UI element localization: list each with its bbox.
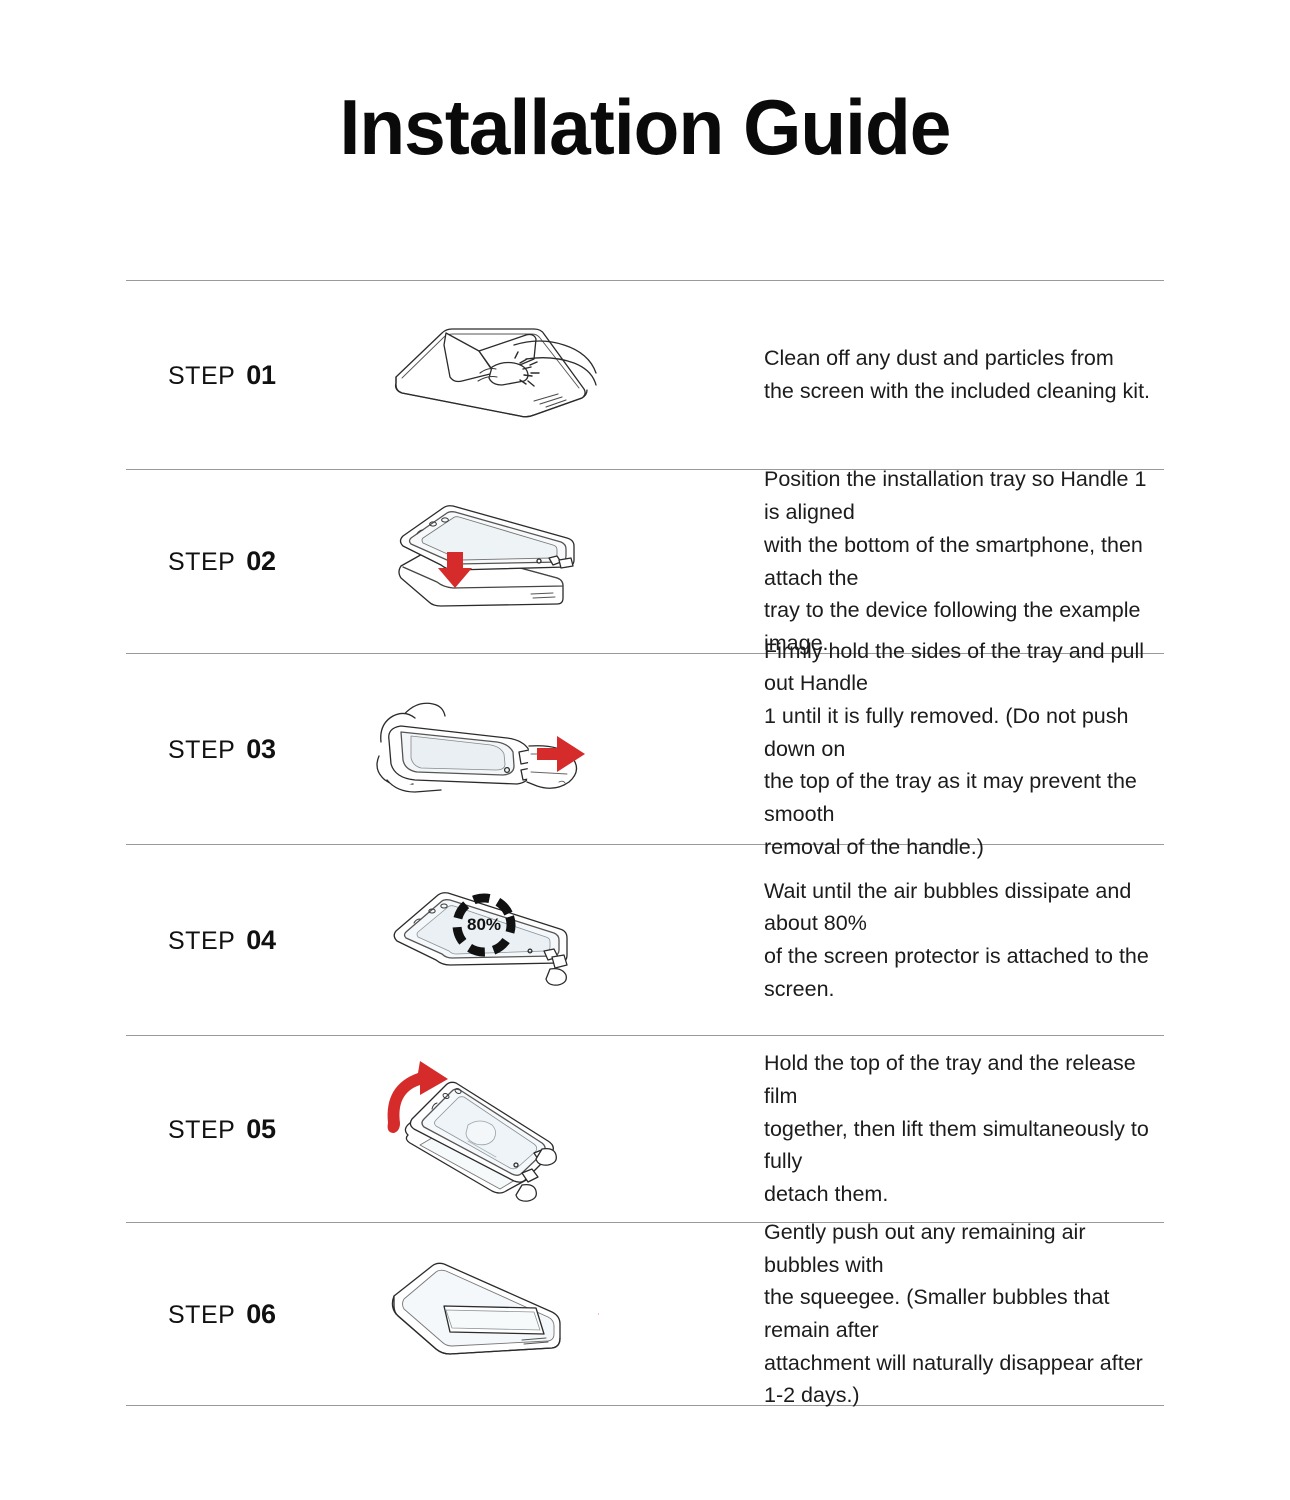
step-word: STEP	[168, 1301, 235, 1329]
step-illustration-01	[341, 315, 641, 435]
steps-list: STEP01	[126, 280, 1164, 1406]
step-text-02: Position the installation tray so Handle…	[641, 463, 1164, 659]
tray-lifting-curved-arrow-icon	[376, 1049, 606, 1209]
tray-with-80-percent-progress-icon: 80%	[384, 873, 599, 1008]
hand-pulling-handle-right-arrow-icon	[371, 684, 611, 814]
step-text-03: Firmly hold the sides of the tray and pu…	[641, 635, 1164, 864]
step-illustration-03	[341, 684, 641, 814]
red-left-arrow-icon	[598, 1296, 599, 1332]
installation-guide-page: Installation Guide STEP01	[0, 0, 1290, 1500]
step-word: STEP	[168, 736, 235, 764]
step-word: STEP	[168, 1116, 235, 1144]
step-number: 05	[246, 1114, 275, 1144]
step-label-03: STEP03	[126, 734, 341, 765]
step-label-02: STEP02	[126, 546, 341, 577]
step-text-05: Hold the top of the tray and the release…	[641, 1047, 1164, 1210]
page-title: Installation Guide	[26, 82, 1264, 173]
step-label-05: STEP05	[126, 1114, 341, 1145]
step-number: 02	[246, 546, 275, 576]
step-row: STEP02	[126, 470, 1164, 653]
step-row: STEP06	[126, 1223, 1164, 1405]
step-number: 06	[246, 1299, 275, 1329]
step-number: 01	[246, 360, 275, 390]
step-word: STEP	[168, 362, 235, 390]
step-text-01: Clean off any dust and particles from th…	[641, 342, 1164, 407]
step-row: STEP03	[126, 654, 1164, 844]
step-number: 03	[246, 734, 275, 764]
step-illustration-02	[341, 494, 641, 629]
step-row: STEP04	[126, 845, 1164, 1035]
squeegee-pushing-bubbles-left-arrow-icon	[384, 1252, 599, 1377]
step-text-04: Wait until the air bubbles dissipate and…	[641, 875, 1164, 1006]
step-row: STEP05	[126, 1036, 1164, 1222]
step-word: STEP	[168, 927, 235, 955]
step-number: 04	[246, 925, 275, 955]
step-text-06: Gently push out any remaining air bubble…	[641, 1216, 1164, 1412]
step-word: STEP	[168, 548, 235, 576]
progress-badge-label: 80%	[466, 915, 500, 934]
step-row: STEP01	[126, 281, 1164, 469]
step-illustration-06	[341, 1252, 641, 1377]
step-label-06: STEP06	[126, 1299, 341, 1330]
tray-aligned-over-phone-down-arrow-icon	[381, 494, 601, 629]
step-label-04: STEP04	[126, 925, 341, 956]
step-illustration-05	[341, 1049, 641, 1209]
hand-wiping-phone-with-cloth-icon	[384, 315, 599, 435]
step-label-01: STEP01	[126, 360, 341, 391]
step-illustration-04: 80%	[341, 873, 641, 1008]
